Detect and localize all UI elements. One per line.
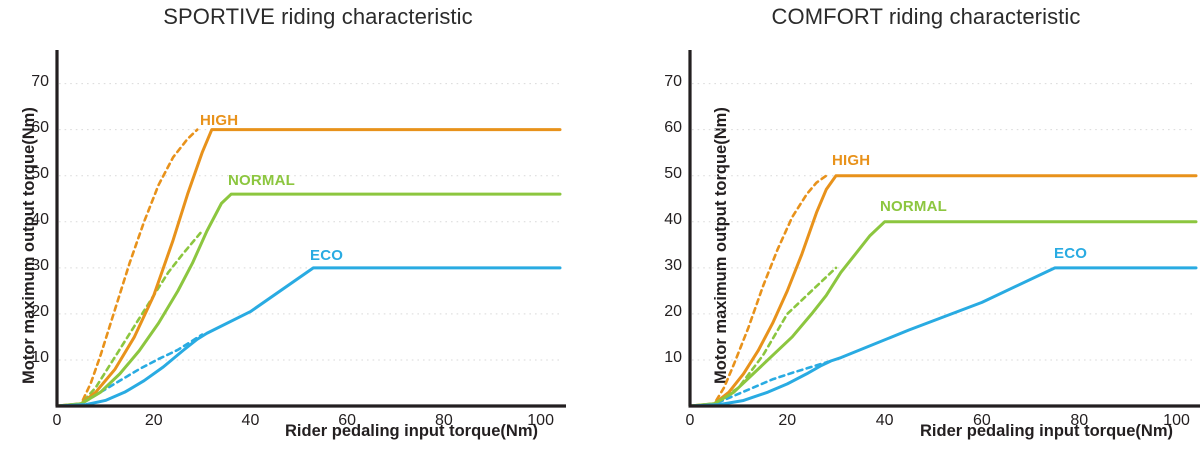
series-label-high: HIGH bbox=[832, 152, 870, 169]
x-tick-label-0: 0 bbox=[660, 412, 720, 430]
plot-svg-sportive bbox=[0, 0, 600, 457]
y-tick-label-70: 70 bbox=[9, 73, 49, 91]
chart-panel-sportive: SPORTIVE riding characteristic Motor max… bbox=[0, 0, 600, 457]
x-tick-label-20: 20 bbox=[757, 412, 817, 430]
x-tick-label-80: 80 bbox=[414, 412, 474, 430]
series-line-normal-dashed bbox=[57, 231, 202, 406]
series-line-high-dashed bbox=[690, 176, 826, 406]
x-tick-label-0: 0 bbox=[27, 412, 87, 430]
x-tick-label-60: 60 bbox=[317, 412, 377, 430]
series-label-eco: ECO bbox=[1054, 245, 1087, 262]
x-tick-label-40: 40 bbox=[220, 412, 280, 430]
y-tick-label-30: 30 bbox=[9, 257, 49, 275]
series-line-normal-dashed bbox=[690, 268, 836, 406]
y-tick-label-60: 60 bbox=[642, 119, 682, 137]
y-tick-label-70: 70 bbox=[642, 73, 682, 91]
series-label-normal: NORMAL bbox=[880, 198, 947, 215]
y-tick-label-50: 50 bbox=[9, 165, 49, 183]
series-line-normal bbox=[57, 194, 560, 406]
series-label-normal: NORMAL bbox=[228, 172, 295, 189]
series-label-eco: ECO bbox=[310, 247, 343, 264]
axes bbox=[56, 50, 567, 406]
figure-root: SPORTIVE riding characteristic Motor max… bbox=[0, 0, 1200, 457]
series-label-high: HIGH bbox=[200, 112, 238, 129]
y-tick-label-30: 30 bbox=[642, 257, 682, 275]
x-tick-label-60: 60 bbox=[952, 412, 1012, 430]
series-line-eco bbox=[57, 268, 560, 406]
x-tick-label-100: 100 bbox=[1147, 412, 1200, 430]
y-tick-label-60: 60 bbox=[9, 119, 49, 137]
y-tick-label-40: 40 bbox=[642, 211, 682, 229]
y-tick-label-20: 20 bbox=[9, 303, 49, 321]
gridlines bbox=[59, 84, 560, 360]
y-tick-label-10: 10 bbox=[9, 349, 49, 367]
y-tick-label-40: 40 bbox=[9, 211, 49, 229]
y-tick-label-20: 20 bbox=[642, 303, 682, 321]
x-tick-label-40: 40 bbox=[855, 412, 915, 430]
x-tick-label-20: 20 bbox=[124, 412, 184, 430]
y-tick-label-10: 10 bbox=[642, 349, 682, 367]
plot-area-sportive: 02040608010010203040506070HIGHNORMALECO bbox=[0, 0, 600, 457]
x-tick-label-80: 80 bbox=[1049, 412, 1109, 430]
x-tick-label-100: 100 bbox=[511, 412, 571, 430]
chart-panel-comfort: COMFORT riding characteristic Motor maxi… bbox=[600, 0, 1200, 457]
plot-svg-comfort bbox=[600, 0, 1200, 457]
plot-area-comfort: 02040608010010203040506070HIGHNORMALECO bbox=[600, 0, 1200, 457]
y-tick-label-50: 50 bbox=[642, 165, 682, 183]
